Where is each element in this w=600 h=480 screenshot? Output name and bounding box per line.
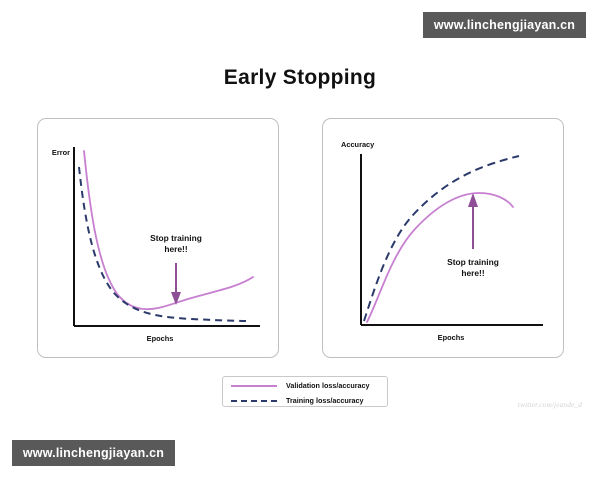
legend-item-validation: Validation loss/accuracy — [223, 378, 387, 393]
training-curve-accuracy — [364, 156, 519, 321]
legend-label-training: Training loss/accuracy — [286, 396, 364, 405]
chart-panel-accuracy: Stop training here!! Accuracy Epochs — [322, 118, 564, 358]
annotation-line1-loss: Stop training — [150, 233, 202, 243]
page-title: Early Stopping — [0, 66, 600, 90]
training-curve-loss — [79, 167, 246, 321]
credit-text: twitter.com/jeande_d — [518, 401, 582, 409]
annotation-line1-accuracy: Stop training — [447, 257, 499, 267]
watermark-bottom-text: www.linchengjiayan.cn — [23, 446, 164, 460]
legend-item-training: Training loss/accuracy — [223, 393, 387, 408]
watermark-top-text: www.linchengjiayan.cn — [434, 18, 575, 32]
watermark-bottom: www.linchengjiayan.cn — [12, 440, 175, 466]
legend-swatch-validation — [231, 381, 277, 391]
annotation-arrowhead-accuracy — [468, 193, 478, 207]
legend: Validation loss/accuracy Training loss/a… — [222, 376, 388, 407]
legend-swatch-training — [231, 396, 277, 406]
x-axis-label-accuracy: Epochs — [438, 333, 465, 342]
watermark-top: www.linchengjiayan.cn — [423, 12, 586, 38]
y-axis-label-loss: Error — [52, 148, 70, 157]
chart-panel-loss: Stop training here!! Error Epochs — [37, 118, 279, 358]
annotation-line2-loss: here!! — [164, 244, 187, 254]
y-axis-label-accuracy: Accuracy — [341, 140, 375, 149]
legend-label-validation: Validation loss/accuracy — [286, 381, 370, 390]
annotation-line2-accuracy: here!! — [461, 268, 484, 278]
x-axis-label-loss: Epochs — [147, 334, 174, 343]
